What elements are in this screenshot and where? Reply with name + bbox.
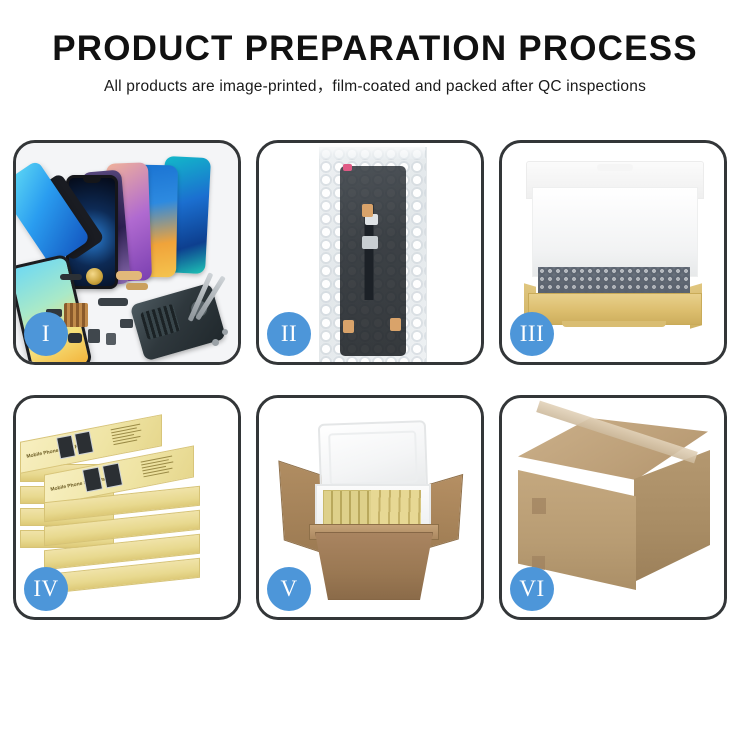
step-badge-2: II xyxy=(267,312,311,356)
step-panel-3[interactable]: III xyxy=(499,140,727,365)
step-panel-5[interactable]: V xyxy=(256,395,484,620)
step-badge-6: VI xyxy=(510,567,554,611)
part-bar-icon xyxy=(60,274,82,280)
bag-seal-icon xyxy=(319,143,425,159)
page-title: PRODUCT PREPARATION PROCESS xyxy=(0,28,750,70)
part-small-2-icon xyxy=(68,333,82,343)
foam-sheet-icon xyxy=(532,187,698,277)
step-badge-4: IV xyxy=(24,567,68,611)
pink-sticker-icon xyxy=(343,164,352,171)
part-small-6-icon xyxy=(120,319,133,328)
page-subtitle: All products are image-printed，film-coat… xyxy=(0,77,750,97)
screw-1-icon xyxy=(212,339,219,346)
part-flex-2-icon xyxy=(126,283,148,290)
screw-2-icon xyxy=(222,329,228,335)
part-small-4-icon xyxy=(106,333,116,345)
bubble-wrap-bag-icon xyxy=(319,147,427,362)
product-preparation-infographic: PRODUCT PREPARATION PROCESS All products… xyxy=(0,0,750,750)
tape-3-icon xyxy=(390,318,401,331)
tape-1-icon xyxy=(362,204,373,217)
step-badge-1: I xyxy=(24,312,68,356)
step-panel-6[interactable]: VI xyxy=(499,395,727,620)
step-badge-5: V xyxy=(267,567,311,611)
steps-grid: I II xyxy=(13,140,739,620)
header: PRODUCT PREPARATION PROCESS All products… xyxy=(0,0,750,97)
tape-2-icon xyxy=(343,320,354,333)
tray-lip-icon xyxy=(562,321,666,327)
part-flex-1-icon xyxy=(116,271,142,280)
step-panel-4[interactable]: Mobile Phone Spare Parts Mobile Phone Sp… xyxy=(13,395,241,620)
step-badge-3: III xyxy=(510,312,554,356)
carton-body-icon xyxy=(315,532,433,600)
lcd-ic-chip-icon xyxy=(362,236,378,249)
part-chip-icon xyxy=(64,303,88,327)
coil-part-icon xyxy=(86,268,103,285)
step-panel-1[interactable]: I xyxy=(13,140,241,365)
part-small-3-icon xyxy=(88,329,100,343)
step-panel-2[interactable]: II xyxy=(256,140,484,365)
carton-mark-1-icon xyxy=(532,498,546,514)
part-flex-3-icon xyxy=(98,298,128,306)
